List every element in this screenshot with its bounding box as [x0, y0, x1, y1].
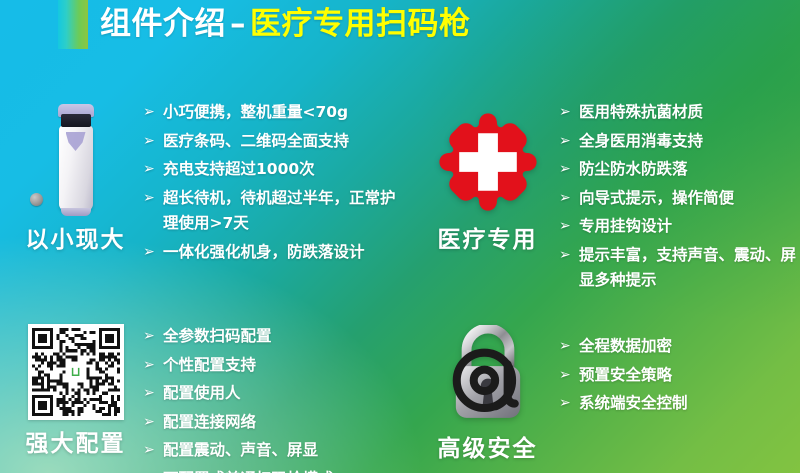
bullet-item: ➢医疗条码、二维码全面支持 [143, 129, 398, 155]
bullet-arrow-icon: ➢ [143, 438, 163, 464]
section-medical: 医疗专用 ➢医用特殊抗菌材质➢全身医用消毒支持➢防尘防水防跌落➢向导式提示，操作… [420, 96, 800, 297]
header-accent-bar [58, 0, 88, 49]
bullet-text: 提示丰富，支持声音、震动、屏显多种提示 [579, 243, 800, 294]
bullet-text: 专用挂钩设计 [579, 214, 672, 240]
bullet-text: 防尘防水防跌落 [579, 157, 688, 183]
bullet-text: 预置安全策略 [579, 363, 672, 389]
section-config-bullets: ➢全参数扫码配置➢个性配置支持➢配置使用人➢配置连接网络➢配置震动、声音、屏显➢… [143, 320, 334, 473]
page-title: 组件介绍–医疗专用扫码枪 [100, 2, 471, 46]
bullet-text: 全程数据加密 [579, 334, 672, 360]
bullet-arrow-icon: ➢ [143, 100, 163, 126]
bullet-item: ➢防尘防水防跌落 [559, 157, 800, 183]
coin-scale-reference-icon [30, 193, 43, 206]
bullet-text: 向导式提示，操作简便 [579, 186, 734, 212]
bullet-text: 配置连接网络 [163, 410, 256, 436]
section-medical-label: 医疗专用 [438, 220, 538, 254]
bullet-item: ➢配置使用人 [143, 381, 334, 407]
section-medical-icon-column: 医疗专用 [420, 96, 555, 297]
bullet-item: ➢个性配置支持 [143, 353, 334, 379]
bullet-arrow-icon: ➢ [143, 467, 163, 473]
section-security-icon-column: 高级安全 [420, 330, 555, 463]
bullet-item: ➢小巧便携，整机重量<70g [143, 100, 398, 126]
bullet-arrow-icon: ➢ [559, 100, 579, 126]
bullet-arrow-icon: ➢ [143, 240, 163, 266]
bullet-arrow-icon: ➢ [143, 353, 163, 379]
bullet-text: 系统端安全控制 [579, 391, 688, 417]
bullet-arrow-icon: ➢ [143, 129, 163, 155]
bullet-arrow-icon: ➢ [559, 363, 579, 389]
bullet-item: ➢提示丰富，支持声音、震动、屏显多种提示 [559, 243, 800, 294]
page-title-main: 组件介绍 [100, 6, 226, 42]
bullet-arrow-icon: ➢ [143, 381, 163, 407]
bullet-item: ➢一体化强化机身，防跌落设计 [143, 240, 398, 266]
section-config-icon-column: ⊔ 强大配置 [8, 320, 143, 473]
bullet-item: ➢超长待机，待机超过半年，正常护理使用>7天 [143, 186, 398, 237]
padlock-at-sign-icon [434, 325, 542, 425]
section-config: ⊔ 强大配置 ➢全参数扫码配置➢个性配置支持➢配置使用人➢配置连接网络➢配置震动… [8, 320, 334, 473]
section-compact: 以小现大 ➢小巧便携，整机重量<70g➢医疗条码、二维码全面支持➢充电支持超过1… [8, 96, 398, 268]
bullet-text: 小巧便携，整机重量<70g [163, 100, 348, 126]
section-security-label: 高级安全 [438, 429, 538, 463]
bullet-text: 个性配置支持 [163, 353, 256, 379]
section-compact-label: 以小现大 [26, 220, 126, 254]
bullet-arrow-icon: ➢ [559, 186, 579, 212]
bullet-item: ➢医用特殊抗菌材质 [559, 100, 800, 126]
bullet-text: 全参数扫码配置 [163, 324, 272, 350]
bullet-text: 一体化强化机身，防跌落设计 [163, 240, 365, 266]
bullet-item: ➢专用挂钩设计 [559, 214, 800, 240]
bullet-text: 充电支持超过1000次 [163, 157, 315, 183]
icon-stage [8, 96, 143, 216]
barcode-scanner-gun-icon [52, 104, 100, 216]
bullet-item: ➢系统端安全控制 [559, 391, 688, 417]
bullet-item: ➢向导式提示，操作简便 [559, 186, 800, 212]
page-title-highlight: 医疗专用扫码枪 [250, 6, 471, 42]
bullet-arrow-icon: ➢ [143, 157, 163, 183]
section-security: 高级安全 ➢全程数据加密➢预置安全策略➢系统端安全控制 [420, 330, 688, 463]
bullet-arrow-icon: ➢ [143, 324, 163, 350]
bullet-text: 全身医用消毒支持 [579, 129, 703, 155]
bullet-arrow-icon: ➢ [559, 214, 579, 240]
bullet-text: 配置使用人 [163, 381, 241, 407]
icon-stage [420, 96, 555, 216]
scanner-foot [61, 208, 91, 216]
bullet-item: ➢预置安全策略 [559, 363, 688, 389]
section-security-bullets: ➢全程数据加密➢预置安全策略➢系统端安全控制 [555, 330, 688, 463]
qr-code-icon: ⊔ [28, 324, 124, 420]
bullet-text: 配置震动、声音、屏显 [163, 438, 318, 464]
bullet-arrow-icon: ➢ [559, 391, 579, 417]
bullet-item: ➢配置连接网络 [143, 410, 334, 436]
bullet-arrow-icon: ➢ [559, 334, 579, 360]
medical-cross-icon [432, 108, 544, 216]
section-compact-icon-column: 以小现大 [8, 96, 143, 268]
bullet-arrow-icon: ➢ [143, 410, 163, 436]
bullet-text: 医疗条码、二维码全面支持 [163, 129, 349, 155]
bullet-text: 超长待机，待机超过半年，正常护理使用>7天 [163, 186, 398, 237]
section-medical-bullets: ➢医用特殊抗菌材质➢全身医用消毒支持➢防尘防水防跌落➢向导式提示，操作简便➢专用… [555, 96, 800, 297]
bullet-item: ➢可配置成普通扫码枪模式 [143, 467, 334, 473]
bullet-item: ➢全程数据加密 [559, 334, 688, 360]
bullet-item: ➢全参数扫码配置 [143, 324, 334, 350]
bullet-item: ➢全身医用消毒支持 [559, 129, 800, 155]
page-title-dash: – [226, 6, 250, 42]
bullet-arrow-icon: ➢ [559, 129, 579, 155]
bullet-item: ➢充电支持超过1000次 [143, 157, 398, 183]
scanner-screen [61, 114, 91, 127]
bullet-arrow-icon: ➢ [143, 186, 163, 212]
icon-stage [420, 330, 555, 425]
bullet-text: 医用特殊抗菌材质 [579, 100, 703, 126]
bullet-arrow-icon: ➢ [559, 157, 579, 183]
bullet-item: ➢配置震动、声音、屏显 [143, 438, 334, 464]
bullet-text: 可配置成普通扫码枪模式 [163, 467, 334, 473]
qr-center-logo-icon: ⊔ [66, 362, 86, 382]
section-config-label: 强大配置 [26, 424, 126, 458]
icon-stage: ⊔ [8, 320, 143, 420]
section-compact-bullets: ➢小巧便携，整机重量<70g➢医疗条码、二维码全面支持➢充电支持超过1000次➢… [143, 96, 398, 268]
bullet-arrow-icon: ➢ [559, 243, 579, 269]
